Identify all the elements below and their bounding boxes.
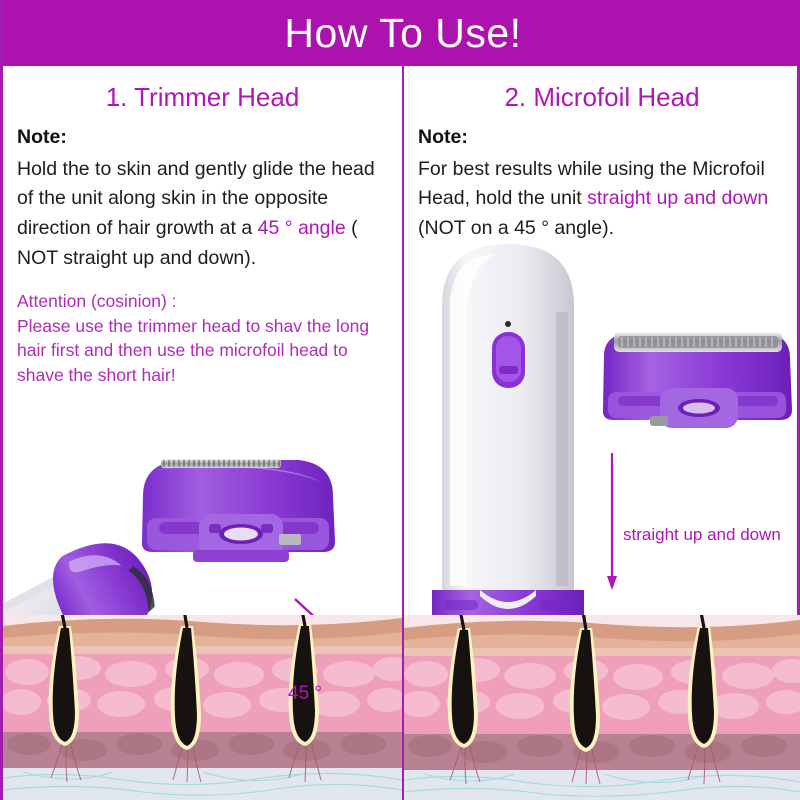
right-section-title: 2. Microfoil Head <box>404 82 800 113</box>
left-section-title: 1. Trimmer Head <box>3 82 402 113</box>
angle-45-graphic <box>273 599 348 648</box>
right-note-text: For best results while using the Microfo… <box>418 155 786 244</box>
straight-down-arrow <box>607 453 617 590</box>
hair-follicles <box>438 512 718 752</box>
attention-block: Attention (cosinion) : Please use the tr… <box>3 289 402 387</box>
trimmer-head-photo <box>142 459 335 562</box>
hair-follicles <box>39 510 319 750</box>
right-note-block: Note: For best results while using the M… <box>404 123 800 244</box>
page-title: How To Use! <box>284 13 521 54</box>
right-note-part-2: (NOT on a 45 ° angle). <box>418 217 614 239</box>
left-note-accent: 45 ° angle <box>258 217 346 239</box>
skin-cross-section <box>404 512 800 800</box>
how-to-use-infographic: How To Use! 1. Trimmer Head Note: Hold t… <box>0 0 800 800</box>
straight-down-label: straight up and down <box>623 525 781 545</box>
column-microfoil-head: 2. Microfoil Head Note: For best results… <box>404 66 800 800</box>
right-note-label: Note: <box>418 123 786 153</box>
left-note-label: Note: <box>17 123 388 153</box>
upright-device <box>432 244 584 660</box>
attention-body: Please use the trimmer head to shav the … <box>17 314 388 386</box>
right-note-accent: straight up and down <box>587 187 768 209</box>
column-trimmer-head: 1. Trimmer Head Note: Hold the to skin a… <box>3 66 402 800</box>
left-note-block: Note: Hold the to skin and gently glide … <box>3 123 402 273</box>
left-note-text: Hold the to skin and gently glide the he… <box>17 155 388 274</box>
angle-45-label: 45 ° <box>288 683 322 705</box>
header-banner: How To Use! <box>3 0 800 66</box>
tilted-device-45 <box>3 525 171 746</box>
skin-cross-section <box>3 510 402 800</box>
microfoil-head-photo <box>603 332 792 428</box>
attention-title: Attention (cosinion) : <box>17 289 388 313</box>
